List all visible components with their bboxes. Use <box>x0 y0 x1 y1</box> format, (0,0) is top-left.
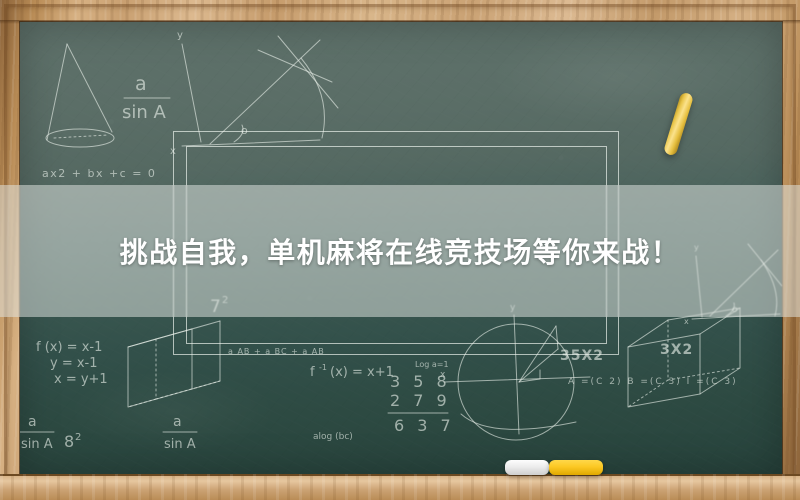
svg-text:f: f <box>310 365 315 380</box>
svg-text:f (x) = x-1: f (x) = x-1 <box>36 340 102 355</box>
svg-text:y = x-1: y = x-1 <box>50 356 98 371</box>
svg-text:ax2 + bx +c = 0: ax2 + bx +c = 0 <box>42 167 156 180</box>
svg-text:x: x <box>440 370 446 380</box>
svg-text:6 3 7: 6 3 7 <box>394 416 455 435</box>
svg-text:3X2: 3X2 <box>660 342 693 358</box>
svg-text:sin A: sin A <box>164 437 196 452</box>
svg-text:x: x <box>684 317 689 326</box>
chalkboard-banner-image: a sin A ax2 + bx +c = 0 y x o <box>0 0 800 500</box>
yellow-chalk-icon <box>549 460 603 475</box>
cube-drawing-right <box>628 308 740 407</box>
svg-text:a: a <box>28 414 37 430</box>
svg-text:sin A: sin A <box>122 102 167 123</box>
banner-caption: 挑战自我，单机麻将在线竞技场等你来战！ <box>120 231 681 271</box>
caption-band: 挑战自我，单机麻将在线竞技场等你来战！ <box>0 185 800 317</box>
svg-text:x = y+1: x = y+1 <box>54 372 108 387</box>
svg-text:Log a=1: Log a=1 <box>415 360 449 369</box>
function-equations: f (x) = x-1 y = x-1 x = y+1 <box>36 340 108 387</box>
chalk-ledge <box>0 474 800 500</box>
svg-text:a: a <box>135 73 147 95</box>
svg-text:-1: -1 <box>319 363 327 372</box>
svg-text:sin A: sin A <box>21 437 53 452</box>
svg-text:8: 8 <box>64 432 74 451</box>
svg-text:alog (bc): alog (bc) <box>313 432 353 442</box>
svg-text:y: y <box>177 30 183 41</box>
cone-drawing <box>46 44 114 147</box>
svg-text:A =(C 2) B =(C 3) I =(C 3): A =(C 2) B =(C 3) I =(C 3) <box>568 377 738 387</box>
white-chalk-icon <box>505 460 549 475</box>
svg-text:2: 2 <box>75 432 81 443</box>
svg-text:2 7 9: 2 7 9 <box>390 391 451 410</box>
svg-text:a: a <box>173 414 182 430</box>
svg-text:(x) = x+1: (x) = x+1 <box>330 365 394 380</box>
addition-column: 3 5 8 2 7 9 6 3 7 <box>388 372 455 435</box>
svg-text:3 5 8: 3 5 8 <box>390 372 451 391</box>
